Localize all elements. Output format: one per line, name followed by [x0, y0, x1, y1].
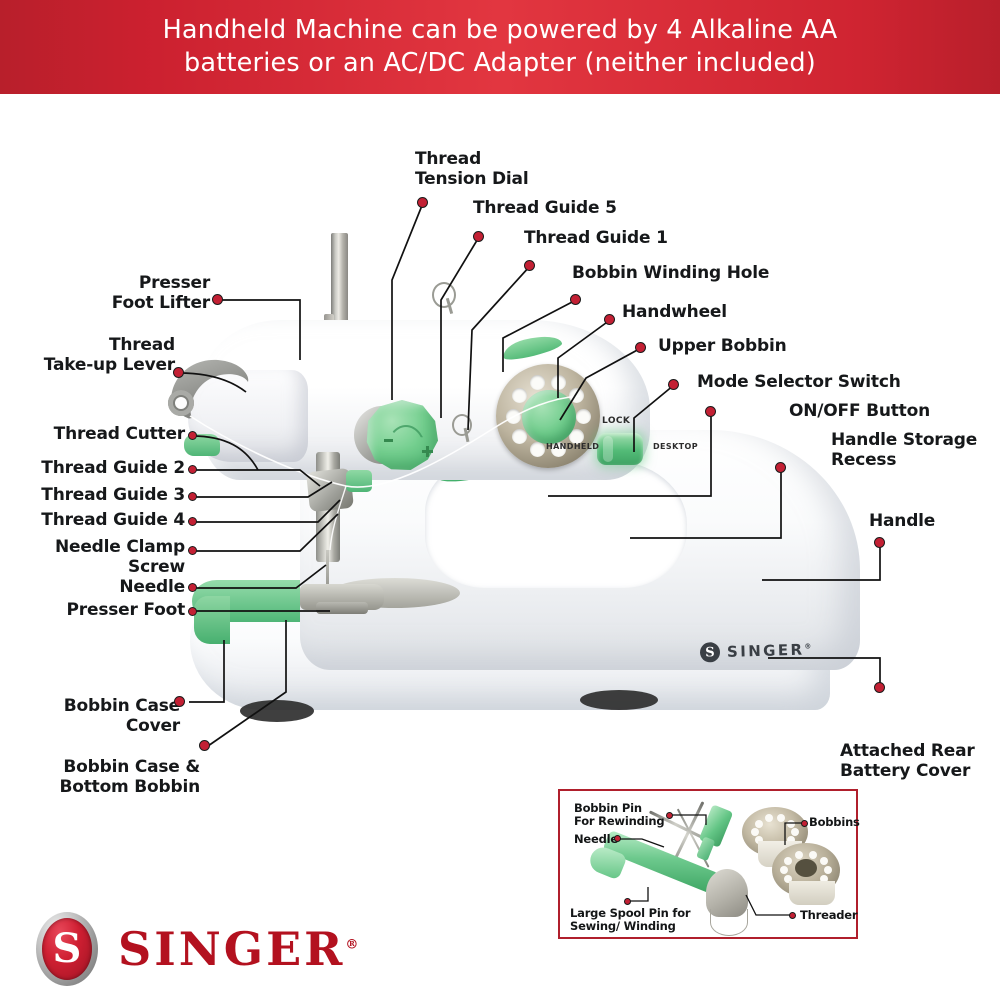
label-thread-guide-4: Thread Guide 4	[10, 511, 185, 531]
dot-mode-selector-switch	[668, 379, 679, 390]
dot-needle	[188, 583, 197, 592]
machine-brand-mark: S SINGER®	[700, 639, 814, 662]
inset-dot-needle	[614, 835, 621, 842]
label-bobbin-case-cover: Bobbin Case Cover	[10, 697, 180, 736]
label-thread-tension-dial: Thread Tension Dial	[415, 150, 615, 189]
label-thread-cutter: Thread Cutter	[10, 425, 185, 445]
label-bobbin-winding-hole: Bobbin Winding Hole	[572, 264, 832, 284]
header-banner: Handheld Machine can be powered by 4 Alk…	[0, 0, 1000, 94]
label-needle-clamp-screw: Needle Clamp Screw	[10, 538, 185, 577]
dot-thread-tension-dial	[417, 197, 428, 208]
label-handwheel: Handwheel	[622, 303, 822, 323]
label-thread-guide-5: Thread Guide 5	[473, 199, 683, 219]
label-handle-storage-recess: Handle Storage Recess	[831, 431, 1000, 470]
label-attached-rear-battery-cover: Attached Rear Battery Cover	[840, 742, 1000, 781]
dot-attached-rear-battery-cover	[874, 682, 885, 693]
inset-dot-threader	[789, 912, 796, 919]
label-bobbin-case-bottom-bobbin: Bobbin Case & Bottom Bobbin	[10, 758, 200, 797]
machine-brand-s-icon: S	[700, 642, 721, 663]
machine-brand-text: SINGER®	[727, 640, 814, 660]
singer-badge-letter: S	[53, 929, 82, 969]
dot-thread-guide-4	[188, 517, 197, 526]
singer-brand-logo: S SINGER®	[36, 912, 358, 986]
label-thread-guide-1: Thread Guide 1	[524, 229, 734, 249]
dot-thread-guide-3	[188, 492, 197, 501]
inset-dot-large-spool-pin	[624, 898, 631, 905]
dot-upper-bobbin	[635, 342, 646, 353]
label-on-off-button: ON/OFF Button	[789, 402, 989, 422]
label-thread-guide-2: Thread Guide 2	[10, 459, 185, 479]
label-presser-foot: Presser Foot	[10, 601, 185, 621]
accessories-inset-box: Bobbin Pin For Rewinding Needle Large Sp…	[558, 789, 858, 939]
banner-line-2: batteries or an AC/DC Adapter (neither i…	[163, 47, 838, 80]
label-needle: Needle	[10, 578, 185, 598]
inset-dot-bobbins	[801, 820, 808, 827]
inset-label-needle: Needle	[574, 833, 644, 846]
dot-presser-foot-lifter	[212, 294, 223, 305]
dot-bobbin-case-cover	[174, 696, 185, 707]
label-thread-guide-3: Thread Guide 3	[10, 486, 185, 506]
dot-handle-storage-recess	[775, 462, 786, 473]
dot-thread-guide-5	[473, 231, 484, 242]
dot-thread-guide-1	[524, 260, 535, 271]
singer-badge-icon: S	[36, 912, 98, 986]
dot-presser-foot	[188, 607, 197, 616]
singer-badge-inner: S	[42, 918, 92, 980]
label-presser-foot-lifter: Presser Foot Lifter	[20, 274, 210, 313]
dot-thread-guide-2	[188, 465, 197, 474]
label-upper-bobbin: Upper Bobbin	[658, 337, 858, 357]
dot-handwheel	[604, 314, 615, 325]
banner-text: Handheld Machine can be powered by 4 Alk…	[123, 14, 878, 80]
dot-thread-cutter	[188, 431, 197, 440]
singer-wordmark: SINGER®	[118, 922, 358, 976]
inset-label-threader: Threader	[800, 909, 862, 922]
infographic-root: Handheld Machine can be powered by 4 Alk…	[0, 0, 1000, 1000]
label-mode-selector-switch: Mode Selector Switch	[697, 373, 927, 393]
banner-line-1: Handheld Machine can be powered by 4 Alk…	[163, 14, 838, 47]
dot-bobbin-case-bottom-bobbin	[199, 740, 210, 751]
dot-bobbin-winding-hole	[570, 294, 581, 305]
inset-label-bobbins: Bobbins	[809, 816, 869, 829]
inset-label-bobbin-pin: Bobbin Pin For Rewinding	[574, 802, 674, 828]
dot-handle	[874, 537, 885, 548]
dot-on-off-button	[705, 406, 716, 417]
inset-label-large-spool-pin: Large Spool Pin for Sewing/ Winding	[570, 907, 720, 933]
label-handle: Handle	[869, 512, 999, 532]
label-thread-take-up-lever: Thread Take-up Lever	[10, 336, 175, 375]
dot-thread-take-up-lever	[173, 367, 184, 378]
inset-dot-bobbin-pin	[666, 812, 673, 819]
dot-needle-clamp-screw	[188, 546, 197, 555]
